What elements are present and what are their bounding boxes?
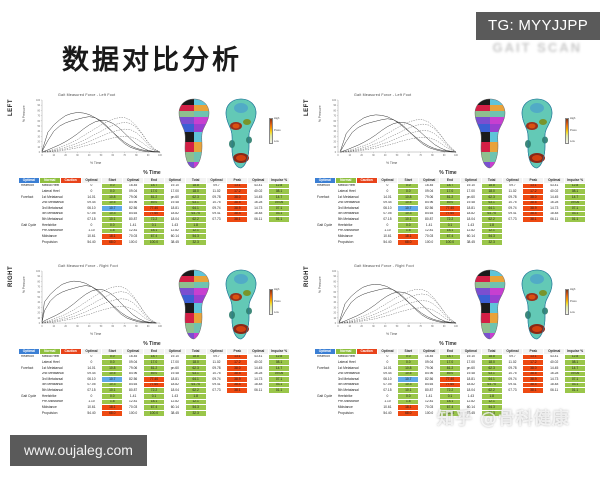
table-cell (565, 411, 586, 417)
svg-text:20: 20 (360, 155, 363, 157)
chart-canvas: 0102030405060708090100010203040506070809… (20, 263, 172, 343)
scale-top-label: High (274, 289, 281, 292)
foot-zone-map-icon (172, 267, 216, 343)
svg-text:40: 40 (88, 155, 91, 157)
svg-text:30: 30 (37, 307, 40, 309)
table-cell (206, 411, 227, 417)
svg-text:10: 10 (37, 147, 40, 149)
gait-data-table[interactable]: OptimalNormalCautionOptimalStartOptimalE… (18, 177, 290, 246)
chart-canvas: 0102030405060708090100010203040506070809… (20, 92, 172, 172)
table-cell: 32.3 (185, 240, 206, 246)
foot-pressure-heatmap-icon (515, 96, 559, 172)
svg-text:0: 0 (337, 155, 339, 157)
svg-text:40: 40 (88, 326, 91, 328)
svg-text:100: 100 (36, 100, 41, 102)
foot-visuals-top-left (172, 92, 263, 172)
table-cell: 100.0 (144, 240, 165, 246)
panel-grid: LEFT Gait Measured Force - Left Foot % P… (8, 92, 592, 430)
svg-text:30: 30 (37, 136, 40, 138)
svg-text:10: 10 (53, 155, 56, 157)
force-time-chart-top-left: Gait Measured Force - Left Foot % Pressu… (20, 92, 172, 172)
table-cell: 54.40 (377, 411, 398, 417)
scale-bottom-label: Low (274, 312, 281, 315)
svg-text:10: 10 (333, 147, 336, 149)
table-cell: 68.0 (398, 411, 419, 417)
svg-text:70: 70 (333, 116, 336, 118)
panel-bottom-right: RIGHT Gait Measured Force - Right Foot %… (304, 263, 592, 430)
row-label: Propulsion (335, 411, 377, 417)
scale-gradient-bar (565, 289, 569, 315)
panel-bottom-left-visuals: Gait Measured Force - Right Foot % Press… (8, 263, 296, 345)
svg-text:100: 100 (454, 326, 459, 328)
svg-text:50: 50 (37, 297, 40, 299)
svg-text:80: 80 (431, 155, 434, 157)
scale-gradient-bar (565, 118, 569, 144)
panel-bottom-right-visuals: Gait Measured Force - Right Foot % Press… (304, 263, 592, 345)
scale-tick-labels: High Press Low (570, 118, 577, 144)
gait-data-table[interactable]: OptimalNormalCautionOptimalStartOptimalE… (314, 177, 586, 246)
panel-bottom-left: RIGHT Gait Measured Force - Right Foot %… (8, 263, 296, 430)
svg-text:80: 80 (333, 110, 336, 112)
table-cell: 32.3 (481, 411, 502, 417)
svg-text:50: 50 (333, 126, 336, 128)
svg-text:60: 60 (333, 121, 336, 123)
svg-text:10: 10 (37, 318, 40, 320)
pressure-scale-legend: High Press Low (559, 263, 577, 315)
chart-x-axis-label: % Time (90, 161, 101, 165)
svg-text:70: 70 (333, 287, 336, 289)
svg-text:70: 70 (419, 155, 422, 157)
force-time-chart-top-right: Gait Measured Force - Left Foot % Pressu… (316, 92, 468, 172)
scale-gradient-bar (269, 289, 273, 315)
foot-pressure-heatmap-icon (219, 96, 263, 172)
scale-top-label: High (570, 118, 577, 121)
svg-text:20: 20 (333, 313, 336, 315)
table-cell: 68.0 (102, 411, 123, 417)
table-cell: 68.0 (398, 240, 419, 246)
svg-text:100: 100 (332, 100, 337, 102)
side-label-right-top: RIGHT (8, 266, 14, 287)
svg-text:30: 30 (372, 155, 375, 157)
gait-data-table[interactable]: OptimalNormalCautionOptimalStartOptimalE… (314, 348, 586, 417)
table-cell: 38.45 (164, 411, 185, 417)
chart-x-axis-label: % Time (386, 161, 397, 165)
side-label-left-bottom: LEFT (304, 99, 310, 116)
svg-text:80: 80 (135, 326, 138, 328)
chart-x-axis-label: % Time (90, 332, 101, 336)
foot-zone-map-icon (468, 96, 512, 172)
pressure-scale-legend: High Press Low (559, 92, 577, 144)
svg-text:20: 20 (333, 142, 336, 144)
svg-text:60: 60 (408, 155, 411, 157)
table-cell: 54.40 (81, 411, 102, 417)
svg-text:0: 0 (41, 326, 43, 328)
side-label-right-bottom: RIGHT (304, 266, 310, 287)
row-label: Propulsion (39, 240, 81, 246)
scale-top-label: High (274, 118, 281, 121)
svg-text:80: 80 (333, 281, 336, 283)
svg-text:50: 50 (100, 326, 103, 328)
table-cell: 38.45 (460, 411, 481, 417)
chart-canvas: 0102030405060708090100010203040506070809… (316, 92, 468, 172)
svg-text:50: 50 (37, 126, 40, 128)
svg-text:0: 0 (39, 152, 41, 154)
table-cell: 38.45 (164, 240, 185, 246)
svg-text:50: 50 (396, 155, 399, 157)
scale-top-label: High (570, 289, 577, 292)
tg-watermark-badge: TG: MYYJJPP (476, 12, 600, 40)
foot-pressure-heatmap-icon (515, 267, 559, 343)
svg-text:70: 70 (419, 326, 422, 328)
svg-text:20: 20 (37, 313, 40, 315)
svg-text:100: 100 (332, 271, 337, 273)
table-cell (523, 411, 544, 417)
svg-text:60: 60 (112, 326, 115, 328)
table-row[interactable]: Propulsion54.4068.0100.0100.038.4532.3 (19, 240, 290, 246)
foot-zone-map-icon (172, 96, 216, 172)
table-cell (227, 411, 248, 417)
pressure-scale-legend: High Press Low (263, 263, 281, 315)
svg-text:10: 10 (53, 326, 56, 328)
svg-text:30: 30 (372, 326, 375, 328)
force-time-chart-bottom-right: Gait Measured Force - Right Foot % Press… (316, 263, 468, 343)
table-cell (502, 240, 523, 246)
scale-bottom-label: Low (570, 141, 577, 144)
table-cell: 100.0 (440, 411, 461, 417)
foot-pressure-heatmap-icon (219, 267, 263, 343)
svg-text:60: 60 (37, 121, 40, 123)
table-row[interactable]: Propulsion54.4068.0100.0100.038.4532.3 (315, 411, 586, 417)
table-cell (544, 411, 565, 417)
pressure-scale-legend: High Press Low (263, 92, 281, 144)
svg-text:60: 60 (333, 292, 336, 294)
svg-text:40: 40 (333, 302, 336, 304)
table-cell: 100.0 (123, 411, 144, 417)
svg-text:80: 80 (431, 326, 434, 328)
panel-top-right-visuals: Gait Measured Force - Left Foot % Pressu… (304, 92, 592, 174)
svg-text:0: 0 (335, 323, 337, 325)
svg-text:30: 30 (333, 307, 336, 309)
table-cell (248, 411, 269, 417)
svg-text:30: 30 (76, 155, 79, 157)
panel-top-left-visuals: Gait Measured Force - Left Foot % Pressu… (8, 92, 296, 174)
scale-tick-labels: High Press Low (274, 118, 281, 144)
svg-text:20: 20 (64, 326, 67, 328)
scale-tick-labels: High Press Low (274, 289, 281, 315)
svg-text:80: 80 (37, 281, 40, 283)
svg-text:10: 10 (333, 318, 336, 320)
page-title: 数据对比分析 (62, 38, 242, 77)
foot-visuals-top-right (468, 92, 559, 172)
svg-text:70: 70 (123, 155, 126, 157)
svg-text:90: 90 (147, 326, 150, 328)
table-cell (544, 240, 565, 246)
svg-text:40: 40 (37, 302, 40, 304)
svg-text:0: 0 (39, 323, 41, 325)
table-cell: 32.3 (481, 240, 502, 246)
foot-visuals-bottom-left (172, 263, 263, 343)
scale-tick-labels: High Press Low (570, 289, 577, 315)
table-cell (227, 240, 248, 246)
table-cell (248, 240, 269, 246)
table-row[interactable]: Propulsion54.4068.0100.0100.038.4532.3 (315, 240, 586, 246)
row-group-label (19, 240, 40, 246)
table-cell: 68.0 (102, 240, 123, 246)
site-url-badge: www.oujaleg.com (10, 435, 147, 466)
svg-text:60: 60 (37, 292, 40, 294)
svg-text:90: 90 (37, 276, 40, 278)
force-time-chart-bottom-left: Gait Measured Force - Right Foot % Press… (20, 263, 172, 343)
svg-text:10: 10 (349, 326, 352, 328)
row-group-label (19, 411, 40, 417)
svg-text:70: 70 (37, 116, 40, 118)
row-group-label (315, 240, 336, 246)
side-label-left-top: LEFT (8, 99, 14, 116)
table-cell: 100.0 (440, 240, 461, 246)
table-row[interactable]: Propulsion54.4068.0100.0100.038.4532.3 (19, 411, 290, 417)
table-cell (502, 411, 523, 417)
svg-text:90: 90 (37, 105, 40, 107)
scale-mid-label: Press (274, 301, 281, 304)
table-cell: 100.0 (419, 411, 440, 417)
scale-mid-label: Press (570, 301, 577, 304)
svg-text:50: 50 (396, 326, 399, 328)
row-label: Propulsion (335, 240, 377, 246)
faded-header-text: GAIT SCAN (493, 40, 583, 55)
svg-text:100: 100 (36, 271, 41, 273)
svg-text:60: 60 (408, 326, 411, 328)
svg-text:70: 70 (123, 326, 126, 328)
svg-text:70: 70 (37, 287, 40, 289)
svg-text:80: 80 (37, 110, 40, 112)
slide-root: TG: MYYJJPP GAIT SCAN 数据对比分析 LEFT Gait M… (0, 0, 600, 480)
gait-table-wrap-bottom-right: OptimalNormalCautionOptimalStartOptimalE… (304, 348, 592, 430)
svg-text:100: 100 (158, 155, 163, 157)
svg-text:20: 20 (360, 326, 363, 328)
scale-mid-label: Press (274, 130, 281, 133)
table-cell: 38.45 (460, 240, 481, 246)
row-group-label (315, 411, 336, 417)
foot-visuals-bottom-right (468, 263, 559, 343)
table-cell (565, 240, 586, 246)
table-cell: 54.40 (81, 240, 102, 246)
svg-text:50: 50 (100, 155, 103, 157)
table-cell: 100.0 (144, 411, 165, 417)
gait-table-wrap-top-right: OptimalNormalCautionOptimalStartOptimalE… (304, 177, 592, 259)
svg-text:100: 100 (454, 155, 459, 157)
scale-mid-label: Press (570, 130, 577, 133)
panel-top-left: LEFT Gait Measured Force - Left Foot % P… (8, 92, 296, 259)
gait-table-wrap-bottom-left: OptimalNormalCautionOptimalStartOptimalE… (8, 348, 296, 430)
svg-text:40: 40 (384, 326, 387, 328)
table-cell (523, 240, 544, 246)
table-cell: 54.40 (377, 240, 398, 246)
svg-text:90: 90 (333, 105, 336, 107)
table-cell (206, 240, 227, 246)
foot-zone-map-icon (468, 267, 512, 343)
svg-text:40: 40 (384, 155, 387, 157)
svg-text:60: 60 (112, 155, 115, 157)
scale-gradient-bar (269, 118, 273, 144)
scale-bottom-label: Low (570, 312, 577, 315)
svg-text:90: 90 (443, 155, 446, 157)
scale-bottom-label: Low (274, 141, 281, 144)
table-cell: 100.0 (123, 240, 144, 246)
table-cell (269, 240, 290, 246)
gait-table-wrap-top-left: OptimalNormalCautionOptimalStartOptimalE… (8, 177, 296, 259)
svg-text:30: 30 (76, 326, 79, 328)
svg-text:90: 90 (333, 276, 336, 278)
chart-canvas: 0102030405060708090100010203040506070809… (316, 263, 468, 343)
svg-text:20: 20 (37, 142, 40, 144)
row-label: Propulsion (39, 411, 81, 417)
chart-x-axis-label: % Time (386, 332, 397, 336)
svg-text:90: 90 (147, 155, 150, 157)
table-cell (269, 411, 290, 417)
svg-text:20: 20 (64, 155, 67, 157)
svg-text:10: 10 (349, 155, 352, 157)
svg-text:0: 0 (41, 155, 43, 157)
svg-text:80: 80 (135, 155, 138, 157)
svg-text:90: 90 (443, 326, 446, 328)
svg-text:30: 30 (333, 136, 336, 138)
svg-text:40: 40 (37, 131, 40, 133)
svg-text:50: 50 (333, 297, 336, 299)
gait-data-table[interactable]: OptimalNormalCautionOptimalStartOptimalE… (18, 348, 290, 417)
svg-text:40: 40 (333, 131, 336, 133)
table-cell: 32.3 (185, 411, 206, 417)
svg-text:0: 0 (335, 152, 337, 154)
svg-text:0: 0 (337, 326, 339, 328)
panel-top-right: LEFT Gait Measured Force - Left Foot % P… (304, 92, 592, 259)
table-cell: 100.0 (419, 240, 440, 246)
svg-text:100: 100 (158, 326, 163, 328)
